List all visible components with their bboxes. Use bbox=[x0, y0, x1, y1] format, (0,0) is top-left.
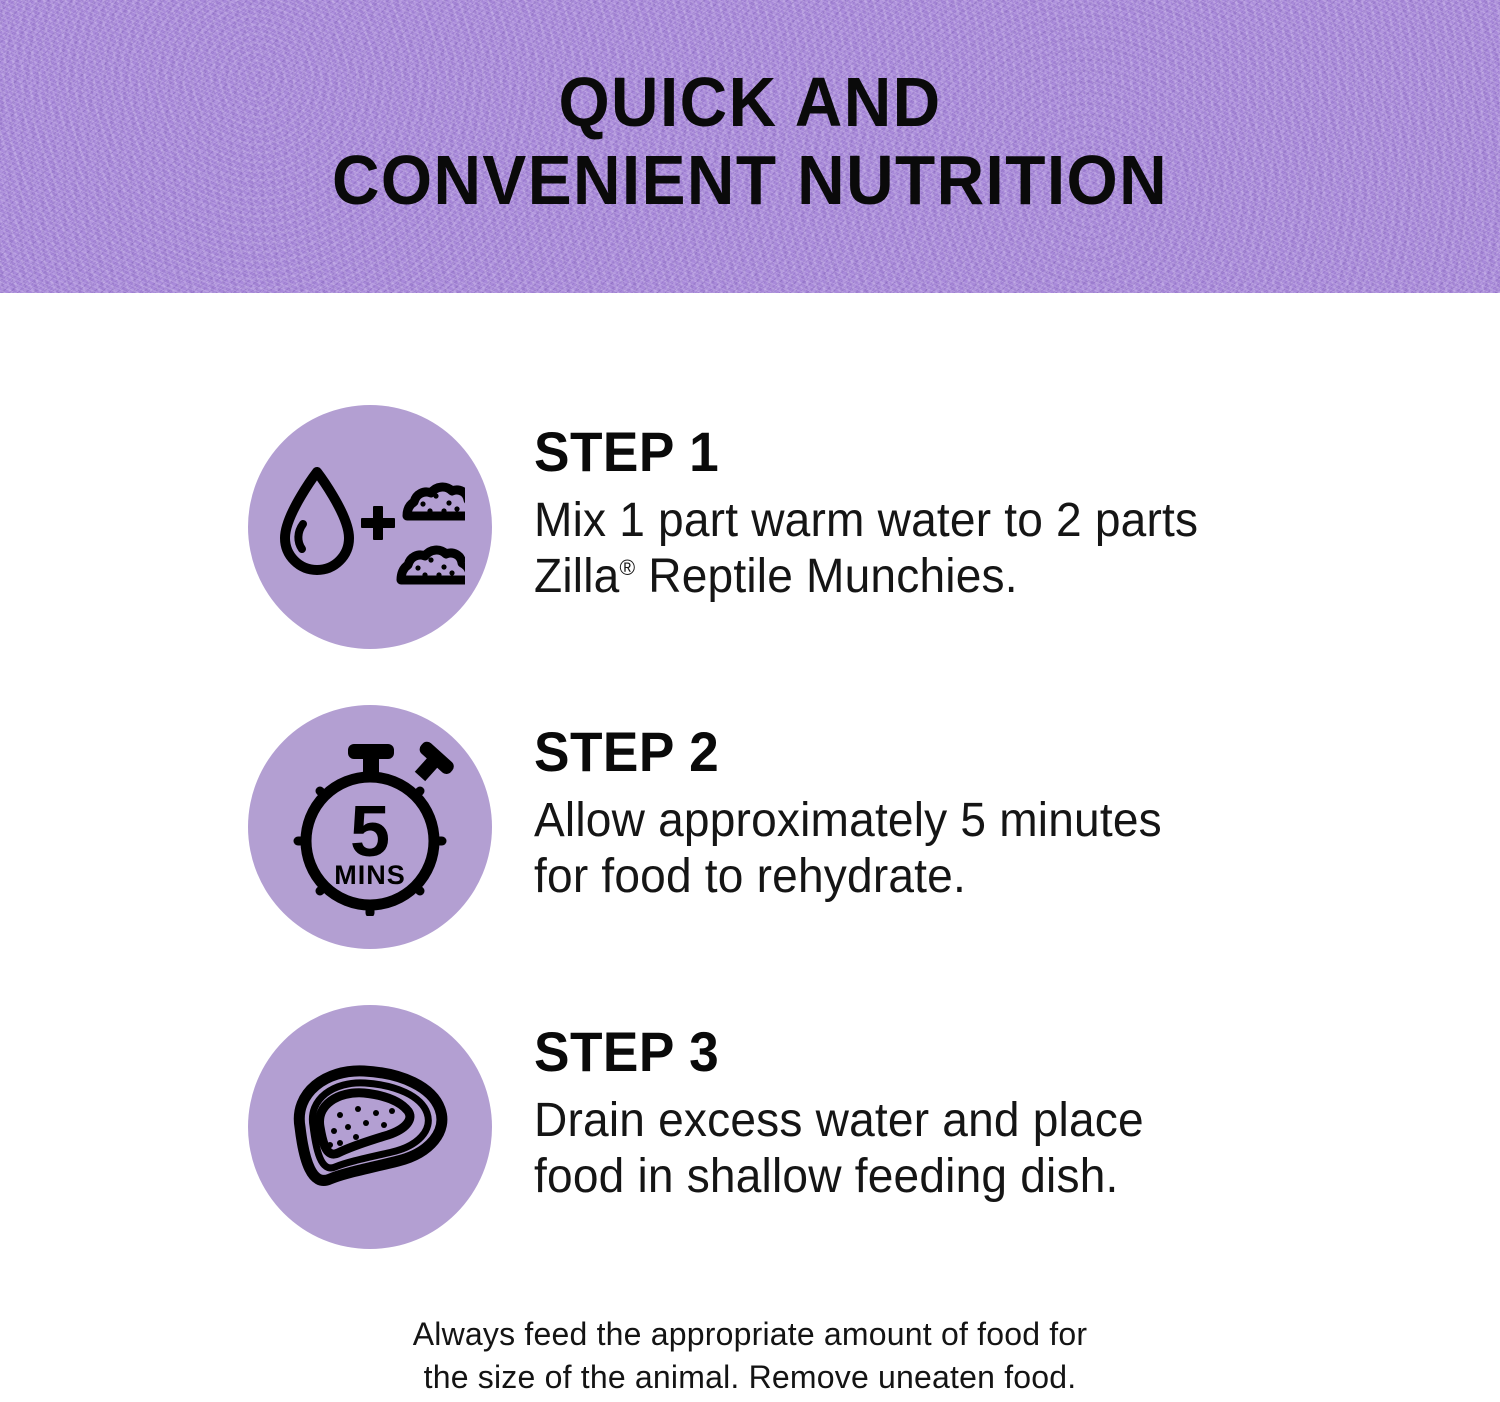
step-item-1: STEP 1 Mix 1 part warm water to 2 parts … bbox=[248, 405, 1348, 649]
step-1-body: Mix 1 part warm water to 2 parts Zilla® … bbox=[534, 493, 1315, 605]
step-1-icon-badge bbox=[248, 405, 492, 649]
stopwatch-5-mins-icon: 5 MINS bbox=[284, 738, 456, 916]
step-1-text: STEP 1 Mix 1 part warm water to 2 parts … bbox=[492, 405, 1348, 605]
step-3-icon-badge bbox=[248, 1005, 492, 1249]
step-item-3: STEP 3 Drain excess water and place food… bbox=[248, 1005, 1348, 1249]
footer-line-1: Always feed the appropriate amount of fo… bbox=[0, 1313, 1500, 1356]
footer-disclaimer: Always feed the appropriate amount of fo… bbox=[0, 1313, 1500, 1399]
page-title-line-1: QUICK AND bbox=[45, 63, 1455, 141]
step-3-heading: STEP 3 bbox=[534, 1023, 1307, 1081]
step-3-text: STEP 3 Drain excess water and place food… bbox=[492, 1005, 1348, 1205]
footer-line-2: the size of the animal. Remove uneaten f… bbox=[0, 1356, 1500, 1399]
step-2-text: STEP 2 Allow approximately 5 minutes for… bbox=[492, 705, 1348, 905]
step-2-body-line-1: Allow approximately 5 minutes bbox=[534, 793, 1315, 849]
step-2-body-line-2: for food to rehydrate. bbox=[534, 849, 1315, 905]
step-1-body-line-2-rest: Reptile Munchies. bbox=[635, 550, 1018, 603]
step-3-body-line-2: food in shallow feeding dish. bbox=[534, 1149, 1315, 1205]
step-1-body-line-2: Zilla® Reptile Munchies. bbox=[534, 549, 1315, 605]
step-item-2: 5 MINS STEP 2 Allow approximately 5 minu… bbox=[248, 705, 1348, 949]
step-3-body-line-1: Drain excess water and place bbox=[534, 1093, 1315, 1149]
step-1-heading: STEP 1 bbox=[534, 423, 1307, 481]
svg-text:MINS: MINS bbox=[334, 860, 406, 890]
header-banner: QUICK AND CONVENIENT NUTRITION bbox=[0, 0, 1500, 293]
page-title-line-2: CONVENIENT NUTRITION bbox=[45, 141, 1455, 219]
step-2-body: Allow approximately 5 minutes for food t… bbox=[534, 793, 1315, 905]
step-2-heading: STEP 2 bbox=[534, 723, 1307, 781]
brand-name: Zilla bbox=[534, 550, 619, 603]
shallow-feeding-dish-icon bbox=[280, 1057, 460, 1197]
step-3-body: Drain excess water and place food in sha… bbox=[534, 1093, 1315, 1205]
page-title: QUICK AND CONVENIENT NUTRITION bbox=[45, 0, 1455, 219]
registered-trademark-symbol: ® bbox=[619, 555, 635, 580]
step-1-body-line-1: Mix 1 part warm water to 2 parts bbox=[534, 493, 1315, 549]
step-2-icon-badge: 5 MINS bbox=[248, 705, 492, 949]
water-drop-plus-food-mounds-icon bbox=[275, 462, 465, 592]
